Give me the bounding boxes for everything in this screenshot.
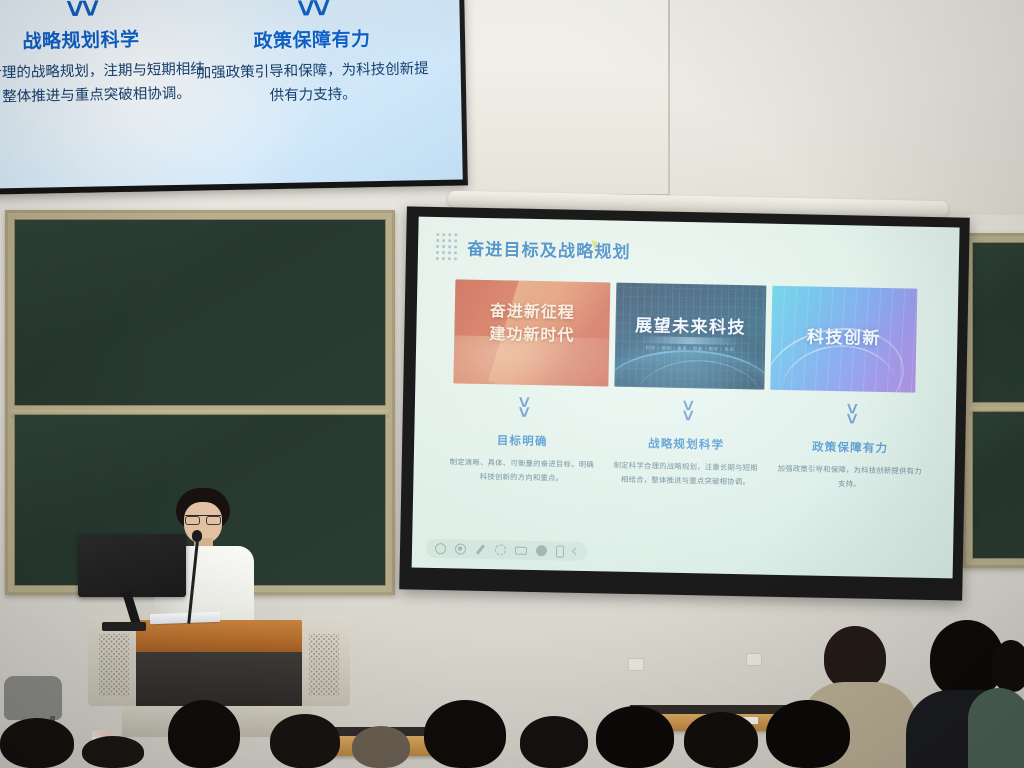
next-slide-icon[interactable] (455, 543, 466, 554)
projection-screen-main: 奋进目标及战略规划 奋进新征程 建功新时代 展望未来科技 科技 / 创新 / (399, 206, 970, 600)
double-chevron-down-icon: ˅˅ (0, 0, 211, 22)
podium-speaker-right (298, 616, 350, 706)
blackboard-pane-lower (972, 411, 1024, 559)
audience-head (352, 726, 410, 768)
audience-head (684, 712, 758, 768)
upper-slide-body: 加强政策引导和保障，为科技创新提供有力支持。 (192, 58, 433, 110)
image-card-2-caption: 展望未来科技 (615, 311, 765, 339)
monitor-panel (78, 534, 186, 597)
audience-head (0, 718, 74, 768)
bullet-column-1: ˅˅ 目标明确 制定清晰、具体、可衡量的奋进目标，明确科技创新的方向和重点。 (439, 397, 605, 486)
bullet-heading: 战略规划科学 (613, 434, 759, 453)
audience-head (596, 706, 674, 768)
glasses-icon (185, 515, 221, 522)
image-card-3[interactable]: 科技创新 (770, 286, 917, 393)
presentation-slide: 奋进目标及战略规划 奋进新征程 建功新时代 展望未来科技 科技 / 创新 / (412, 217, 960, 579)
bullet-heading: 目标明确 (449, 431, 595, 450)
audience-head (270, 714, 340, 768)
bullet-body: 加强政策引导和保障，为科技创新提供有力支持。 (776, 462, 923, 492)
projection-screen-upper: ˅˅ 战略规划科学 科学合理的战略规划，注期与短期相结合，整体推进与重点突破相协… (0, 0, 468, 195)
blackboard-pane-upper (14, 219, 386, 406)
audience-head (520, 716, 588, 768)
phone-remote-icon[interactable] (555, 545, 563, 557)
audience-head (824, 626, 886, 690)
slide-toolbar[interactable] (426, 539, 587, 561)
record-icon[interactable] (535, 545, 546, 556)
collapse-left-icon[interactable] (571, 548, 578, 555)
double-chevron-down-icon: ˅˅ (191, 0, 431, 21)
dot-grid-icon (436, 233, 458, 260)
image-card-3-caption: 科技创新 (771, 322, 916, 350)
slide-header: 奋进目标及战略规划 (436, 233, 631, 264)
bullet-heading: 政策保障有力 (777, 438, 923, 457)
chair-back (4, 676, 62, 720)
bullet-column-row: ˅˅ 目标明确 制定清晰、具体、可衡量的奋进目标，明确科技创新的方向和重点。 ˅… (439, 397, 933, 492)
upper-slide-heading: 战略规划科学 (0, 23, 211, 55)
previous-slide-icon[interactable] (435, 543, 446, 554)
podium-monitor (78, 534, 190, 638)
audience-shoulders (968, 688, 1024, 768)
slide-title: 奋进目标及战略规划 (467, 235, 631, 263)
double-chevron-down-icon: ˅˅ (614, 401, 760, 425)
ceiling-soffit (455, 0, 670, 196)
speaker-mesh (309, 634, 339, 696)
double-chevron-down-icon: ˅˅ (450, 397, 596, 421)
bullet-column-3: ˅˅ 政策保障有力 加强政策引导和保障，为科技创新提供有力支持。 (767, 404, 933, 493)
bullet-body: 制定科学合理的战略规划，注重长期与短期相结合，整体推进与重点突破相协调。 (612, 458, 759, 488)
image-card-1[interactable]: 奋进新征程 建功新时代 (453, 279, 610, 386)
wall-outlet (628, 658, 644, 671)
audience-head (82, 736, 144, 768)
blackboard-right (963, 233, 1024, 568)
double-chevron-down-icon: ˅˅ (778, 404, 924, 428)
monitor-base (102, 622, 146, 631)
image-card-row: 奋进新征程 建功新时代 展望未来科技 科技 / 创新 / 未来 / 智能 / 数… (453, 279, 917, 392)
laser-pointer-icon[interactable] (494, 544, 505, 555)
blackboard-pane-upper (972, 242, 1024, 403)
upper-slide-body: 科学合理的战略规划，注期与短期相结合，整体推进与重点突破相协调。 (0, 58, 212, 111)
audience-head (424, 700, 506, 768)
speaker-mesh (99, 634, 129, 696)
audience-head (766, 700, 850, 768)
upper-slide-column-1: ˅˅ 战略规划科学 科学合理的战略规划，注期与短期相结合，整体推进与重点突破相协… (0, 0, 212, 111)
bullet-body: 制定清晰、具体、可衡量的奋进目标，明确科技创新的方向和重点。 (448, 455, 595, 485)
upper-slide-heading: 政策保障有力 (192, 23, 432, 55)
classroom-photo: ˅˅ 战略规划科学 科学合理的战略规划，注期与短期相结合，整体推进与重点突破相协… (0, 0, 1024, 768)
audience-head (168, 700, 240, 768)
image-card-1-caption: 奋进新征程 建功新时代 (454, 300, 610, 349)
microphone-stem (187, 540, 198, 624)
bullet-column-2: ˅˅ 战略规划科学 制定科学合理的战略规划，注重长期与短期相结合，整体推进与重点… (603, 400, 769, 489)
upper-slide-column-2: ˅˅ 政策保障有力 加强政策引导和保障，为科技创新提供有力支持。 (191, 0, 433, 110)
wall-outlet (746, 653, 762, 666)
image-card-2[interactable]: 展望未来科技 科技 / 创新 / 未来 / 智能 / 数字 / 生态 (614, 283, 766, 390)
screen-icon[interactable] (514, 546, 526, 554)
audience-head (992, 640, 1024, 692)
pen-icon[interactable] (476, 544, 485, 554)
microphone (186, 530, 208, 622)
